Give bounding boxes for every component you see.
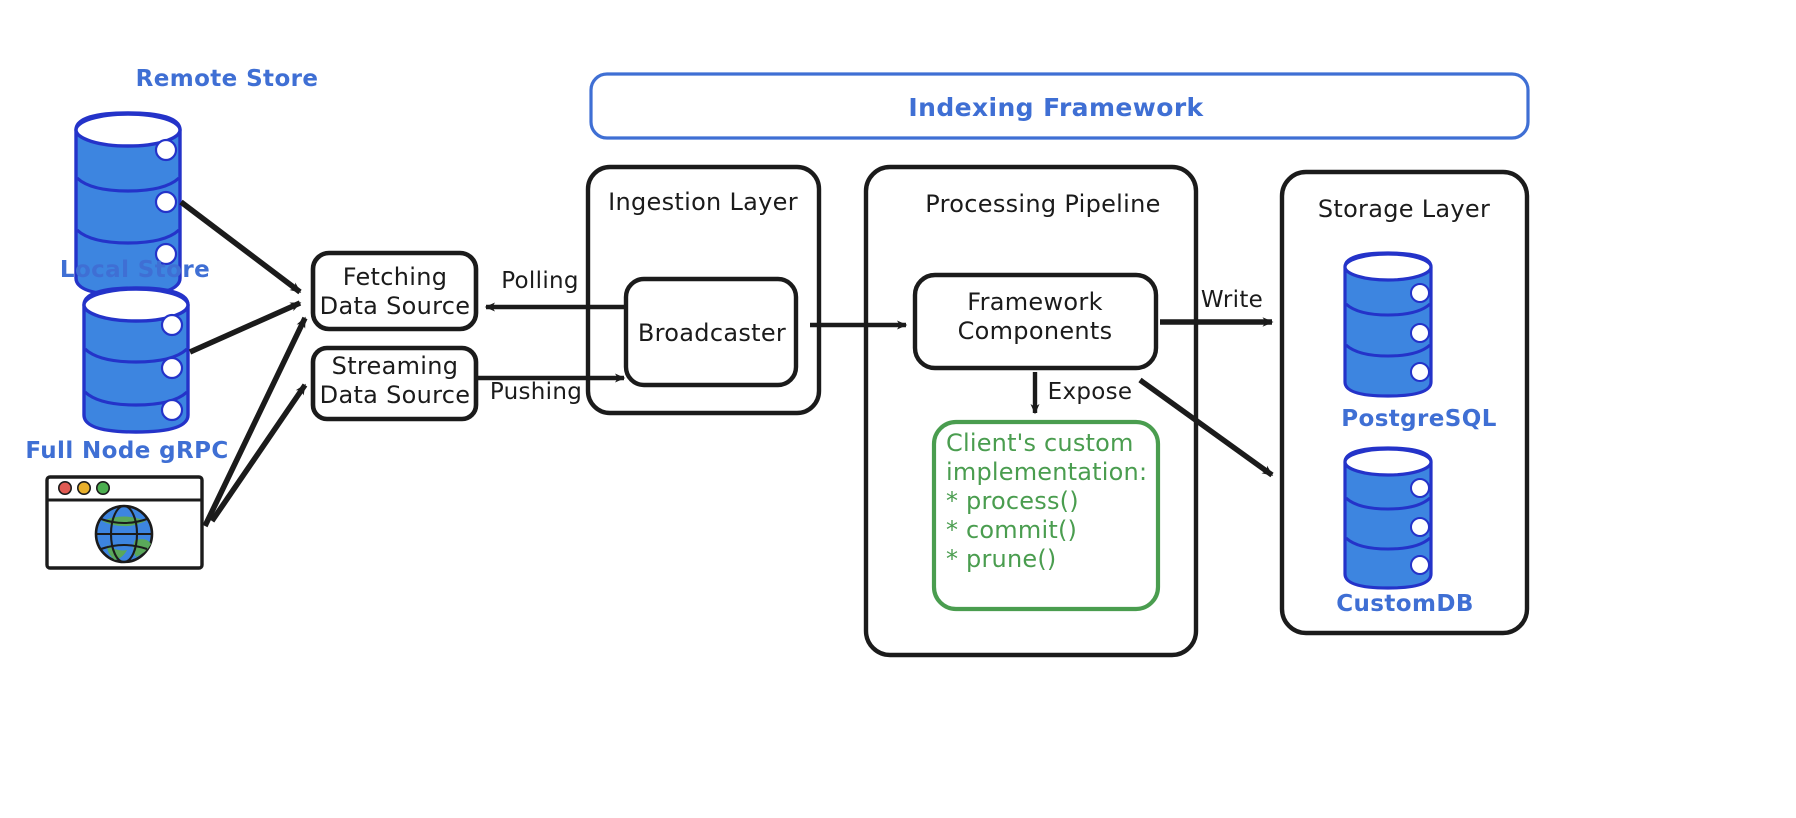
fetching-data-source-box — [313, 253, 476, 329]
architecture-diagram-canvas — [0, 0, 1796, 818]
remote-store-db-icon — [76, 113, 180, 295]
broadcaster-box — [626, 279, 796, 385]
arrow-node-to-streaming — [212, 385, 305, 521]
streaming-data-source-box — [313, 348, 476, 419]
browser-globe-icon — [47, 477, 202, 568]
client-custom-implementation-box — [934, 422, 1158, 609]
framework-components-box — [915, 275, 1156, 368]
indexing-framework-header-bar — [591, 74, 1528, 138]
local-store-db-icon — [84, 288, 188, 432]
postgresql-db-icon — [1345, 253, 1431, 396]
customdb-db-icon — [1345, 448, 1431, 588]
arrow-remote-to-fetching — [181, 202, 300, 292]
arrow-node-to-fetching — [205, 318, 305, 526]
arrow-local-to-fetching — [190, 303, 300, 352]
